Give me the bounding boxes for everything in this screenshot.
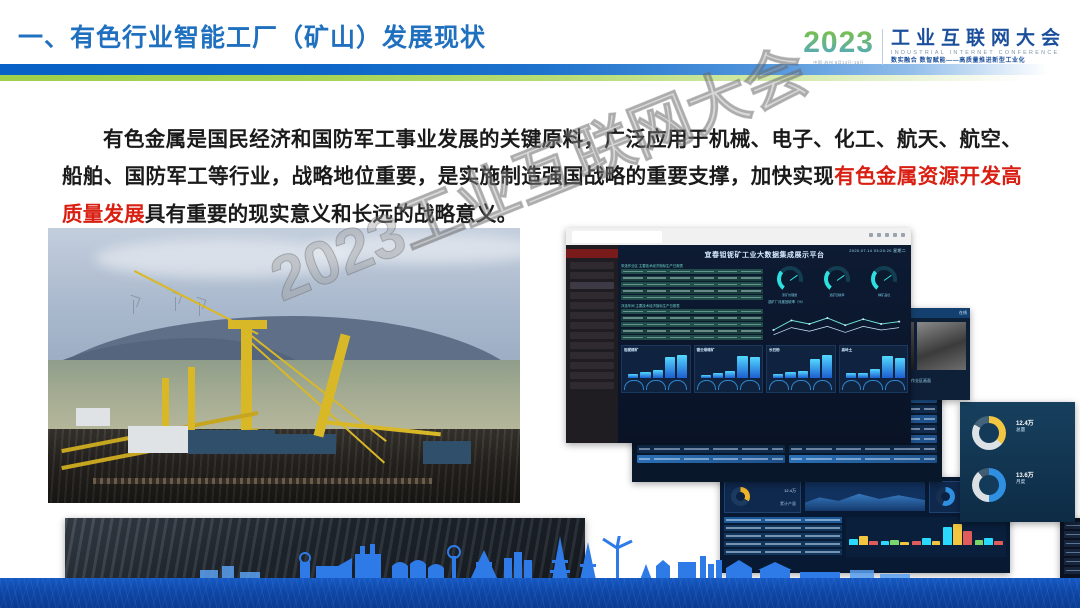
mini-gauge-icon bbox=[718, 380, 738, 390]
mini-gauge-icon bbox=[842, 380, 862, 390]
bar-card-3: 高岭土 bbox=[839, 345, 909, 393]
speed-gauge-icon bbox=[777, 266, 803, 292]
sidebar-item-1[interactable] bbox=[570, 272, 614, 279]
video-monitor-status: 在线 bbox=[959, 310, 967, 316]
sidebar-item-12[interactable] bbox=[570, 382, 614, 389]
bottom-decorative-band bbox=[0, 536, 1080, 608]
mini-gauge-icon bbox=[646, 380, 666, 390]
screenshot-main-browser-window: 宜春钽铌矿工业大数据集成展示平台 2020.07.14 03:20:20 星期二… bbox=[566, 228, 911, 443]
ring-gauge-yellow-label: 12.4万 总量 bbox=[1016, 418, 1034, 433]
donut-gauge-yellow bbox=[731, 487, 750, 506]
gauge-label-1: 选矿回收率 bbox=[824, 293, 850, 297]
mini-gauge-icon bbox=[885, 380, 905, 390]
mini-gauge-icon bbox=[668, 380, 688, 390]
logo-title-cn: 工业互联网大会 bbox=[891, 29, 1066, 49]
sidebar-item-6[interactable] bbox=[570, 322, 614, 329]
screenshot-right-gauge-panel: 12.4万 总量 13.6万 月度 bbox=[960, 402, 1075, 522]
linechart-caption: 选矿厂月度回收率（%） bbox=[768, 299, 908, 304]
sidebar-item-10[interactable] bbox=[570, 362, 614, 369]
donut-gauge-blue bbox=[936, 487, 955, 506]
dashboard-sidebar[interactable] bbox=[566, 245, 618, 443]
ring-gauge-blue-label: 13.6万 月度 bbox=[1016, 470, 1034, 485]
dashboard-datetime: 2020.07.14 03:20:20 星期二 bbox=[849, 248, 906, 254]
logo-year-subtitle: 中国·苏州 8月14日-16日 bbox=[813, 61, 864, 65]
ring-gauge-yellow-caption: 总量 bbox=[1016, 427, 1025, 432]
browser-toolbar-icons[interactable] bbox=[869, 233, 905, 237]
bar-card-0: 钽铌精矿 bbox=[621, 345, 691, 393]
toolbar-icon[interactable] bbox=[893, 233, 897, 237]
logo-text-block: 工业互联网大会 INDUSTRIAL INTERNET CONFERENCE 数… bbox=[891, 29, 1066, 65]
donut-label-1: 累计产量 bbox=[780, 501, 796, 507]
wave-band bbox=[0, 578, 1080, 608]
logo-divider bbox=[882, 29, 883, 65]
sidebar-logo bbox=[566, 249, 618, 258]
dashboard-bar-cards: 钽铌精矿 锂云母精矿 长石粉 bbox=[621, 345, 908, 393]
sidebar-item-9[interactable] bbox=[570, 352, 614, 359]
ring-gauge-yellow-value: 12.4万 bbox=[1016, 418, 1034, 427]
mini-gauge-icon bbox=[769, 380, 789, 390]
sidebar-item-8[interactable] bbox=[570, 342, 614, 349]
donut-value-1: 12.4万 bbox=[784, 488, 796, 494]
logo-year: 2023 bbox=[803, 28, 874, 58]
blue-panel-donut-card-1: 12.4万 累计产量 bbox=[724, 481, 801, 513]
sidebar-item-3[interactable] bbox=[570, 292, 614, 299]
ring-gauge-blue-value: 13.6万 bbox=[1016, 470, 1034, 479]
logo-title-en: INDUSTRIAL INTERNET CONFERENCE bbox=[891, 49, 1066, 57]
bar-card-2: 长石粉 bbox=[766, 345, 836, 393]
browser-chrome bbox=[566, 228, 911, 246]
gauge-label-2: 精矿品位 bbox=[871, 293, 897, 297]
mini-gauge-icon bbox=[863, 380, 883, 390]
speed-gauge-icon bbox=[871, 266, 897, 292]
dashboard-table-0-caption: 采选作业区 主要技术经济指标生产日报表 bbox=[621, 263, 763, 268]
sidebar-item-7[interactable] bbox=[570, 332, 614, 339]
ring-gauge-yellow bbox=[972, 416, 1006, 450]
sidebar-item-11[interactable] bbox=[570, 372, 614, 379]
sidebar-item-2[interactable] bbox=[570, 282, 614, 289]
dashboard-screenshot-cluster: 12.4万 累计产量 13.6万 计划产量 bbox=[560, 222, 1080, 542]
body-paragraph: 有色金属是国民经济和国防军工事业发展的关键原料，广泛应用于机械、电子、化工、航天… bbox=[62, 121, 1022, 235]
bar-card-1: 锂云母精矿 bbox=[694, 345, 764, 393]
mini-gauge-icon bbox=[624, 380, 644, 390]
dashboard-line-chart bbox=[768, 306, 906, 342]
video-frame-right bbox=[917, 322, 967, 370]
bar-card-3-caption: 高岭土 bbox=[842, 348, 906, 353]
bar-card-0-caption: 钽铌精矿 bbox=[624, 348, 688, 353]
dashboard-content: 宜春钽铌矿工业大数据集成展示平台 2020.07.14 03:20:20 星期二… bbox=[618, 245, 911, 443]
mine-photo bbox=[48, 228, 520, 503]
toolbar-icon[interactable] bbox=[885, 233, 889, 237]
dashboard-tables-column: 采选作业区 主要技术经济指标生产日报表 浮选车间 主要技术经济指标生产日报表 bbox=[621, 263, 763, 343]
dashboard-table-1-caption: 浮选车间 主要技术经济指标生产日报表 bbox=[621, 303, 763, 308]
skyline-silhouette bbox=[0, 536, 1080, 580]
dashboard-table-0: 采选作业区 主要技术经济指标生产日报表 bbox=[621, 263, 763, 300]
ring-gauge-blue bbox=[972, 468, 1006, 502]
sidebar-item-5[interactable] bbox=[570, 312, 614, 319]
wind-turbine-icon bbox=[175, 297, 176, 311]
logo-year-block: 2023 中国·苏州 8月14日-16日 bbox=[803, 28, 874, 65]
blue-panel-area-chart bbox=[805, 481, 925, 511]
dashboard-gauges-column: 原矿处理量 选矿回收率 精矿品位 bbox=[766, 263, 908, 343]
bucket-wheel-excavator bbox=[67, 311, 501, 498]
gauge-label-0: 原矿处理量 bbox=[777, 293, 803, 297]
header-rule-green bbox=[0, 75, 1080, 81]
bar-card-2-caption: 长石粉 bbox=[769, 348, 833, 353]
mini-gauge-icon bbox=[697, 380, 717, 390]
speed-gauge-icon bbox=[824, 266, 850, 292]
toolbar-icon[interactable] bbox=[877, 233, 881, 237]
bar-card-1-caption: 锂云母精矿 bbox=[697, 348, 761, 353]
ring-gauge-blue-caption: 月度 bbox=[1016, 479, 1025, 484]
gauge-card-2: 精矿品位 bbox=[871, 266, 897, 297]
gauge-card-0: 原矿处理量 bbox=[777, 266, 803, 297]
logo-slogan: 数实融合 数智赋能——高质量推进新型工业化 bbox=[891, 57, 1066, 65]
body-text-part2: 具有重要的现实意义和长远的战略意义。 bbox=[145, 203, 518, 226]
sidebar-item-0[interactable] bbox=[570, 262, 614, 269]
sidebar-item-4[interactable] bbox=[570, 302, 614, 309]
slide: 一、有色行业智能工厂（矿山）发展现状 2023 中国·苏州 8月14日-16日 … bbox=[0, 0, 1080, 608]
conference-logo: 2023 中国·苏州 8月14日-16日 工业互联网大会 INDUSTRIAL … bbox=[803, 24, 1066, 70]
photo-cloud bbox=[308, 234, 520, 264]
dashboard-table-1: 浮选车间 主要技术经济指标生产日报表 bbox=[621, 303, 763, 340]
page-title: 一、有色行业智能工厂（矿山）发展现状 bbox=[18, 18, 486, 54]
mini-gauge-icon bbox=[791, 380, 811, 390]
browser-tab[interactable] bbox=[572, 231, 662, 243]
toolbar-icon[interactable] bbox=[869, 233, 873, 237]
toolbar-icon[interactable] bbox=[901, 233, 905, 237]
gauge-card-1: 选矿回收率 bbox=[824, 266, 850, 297]
mini-gauge-icon bbox=[740, 380, 760, 390]
mini-gauge-icon bbox=[813, 380, 833, 390]
